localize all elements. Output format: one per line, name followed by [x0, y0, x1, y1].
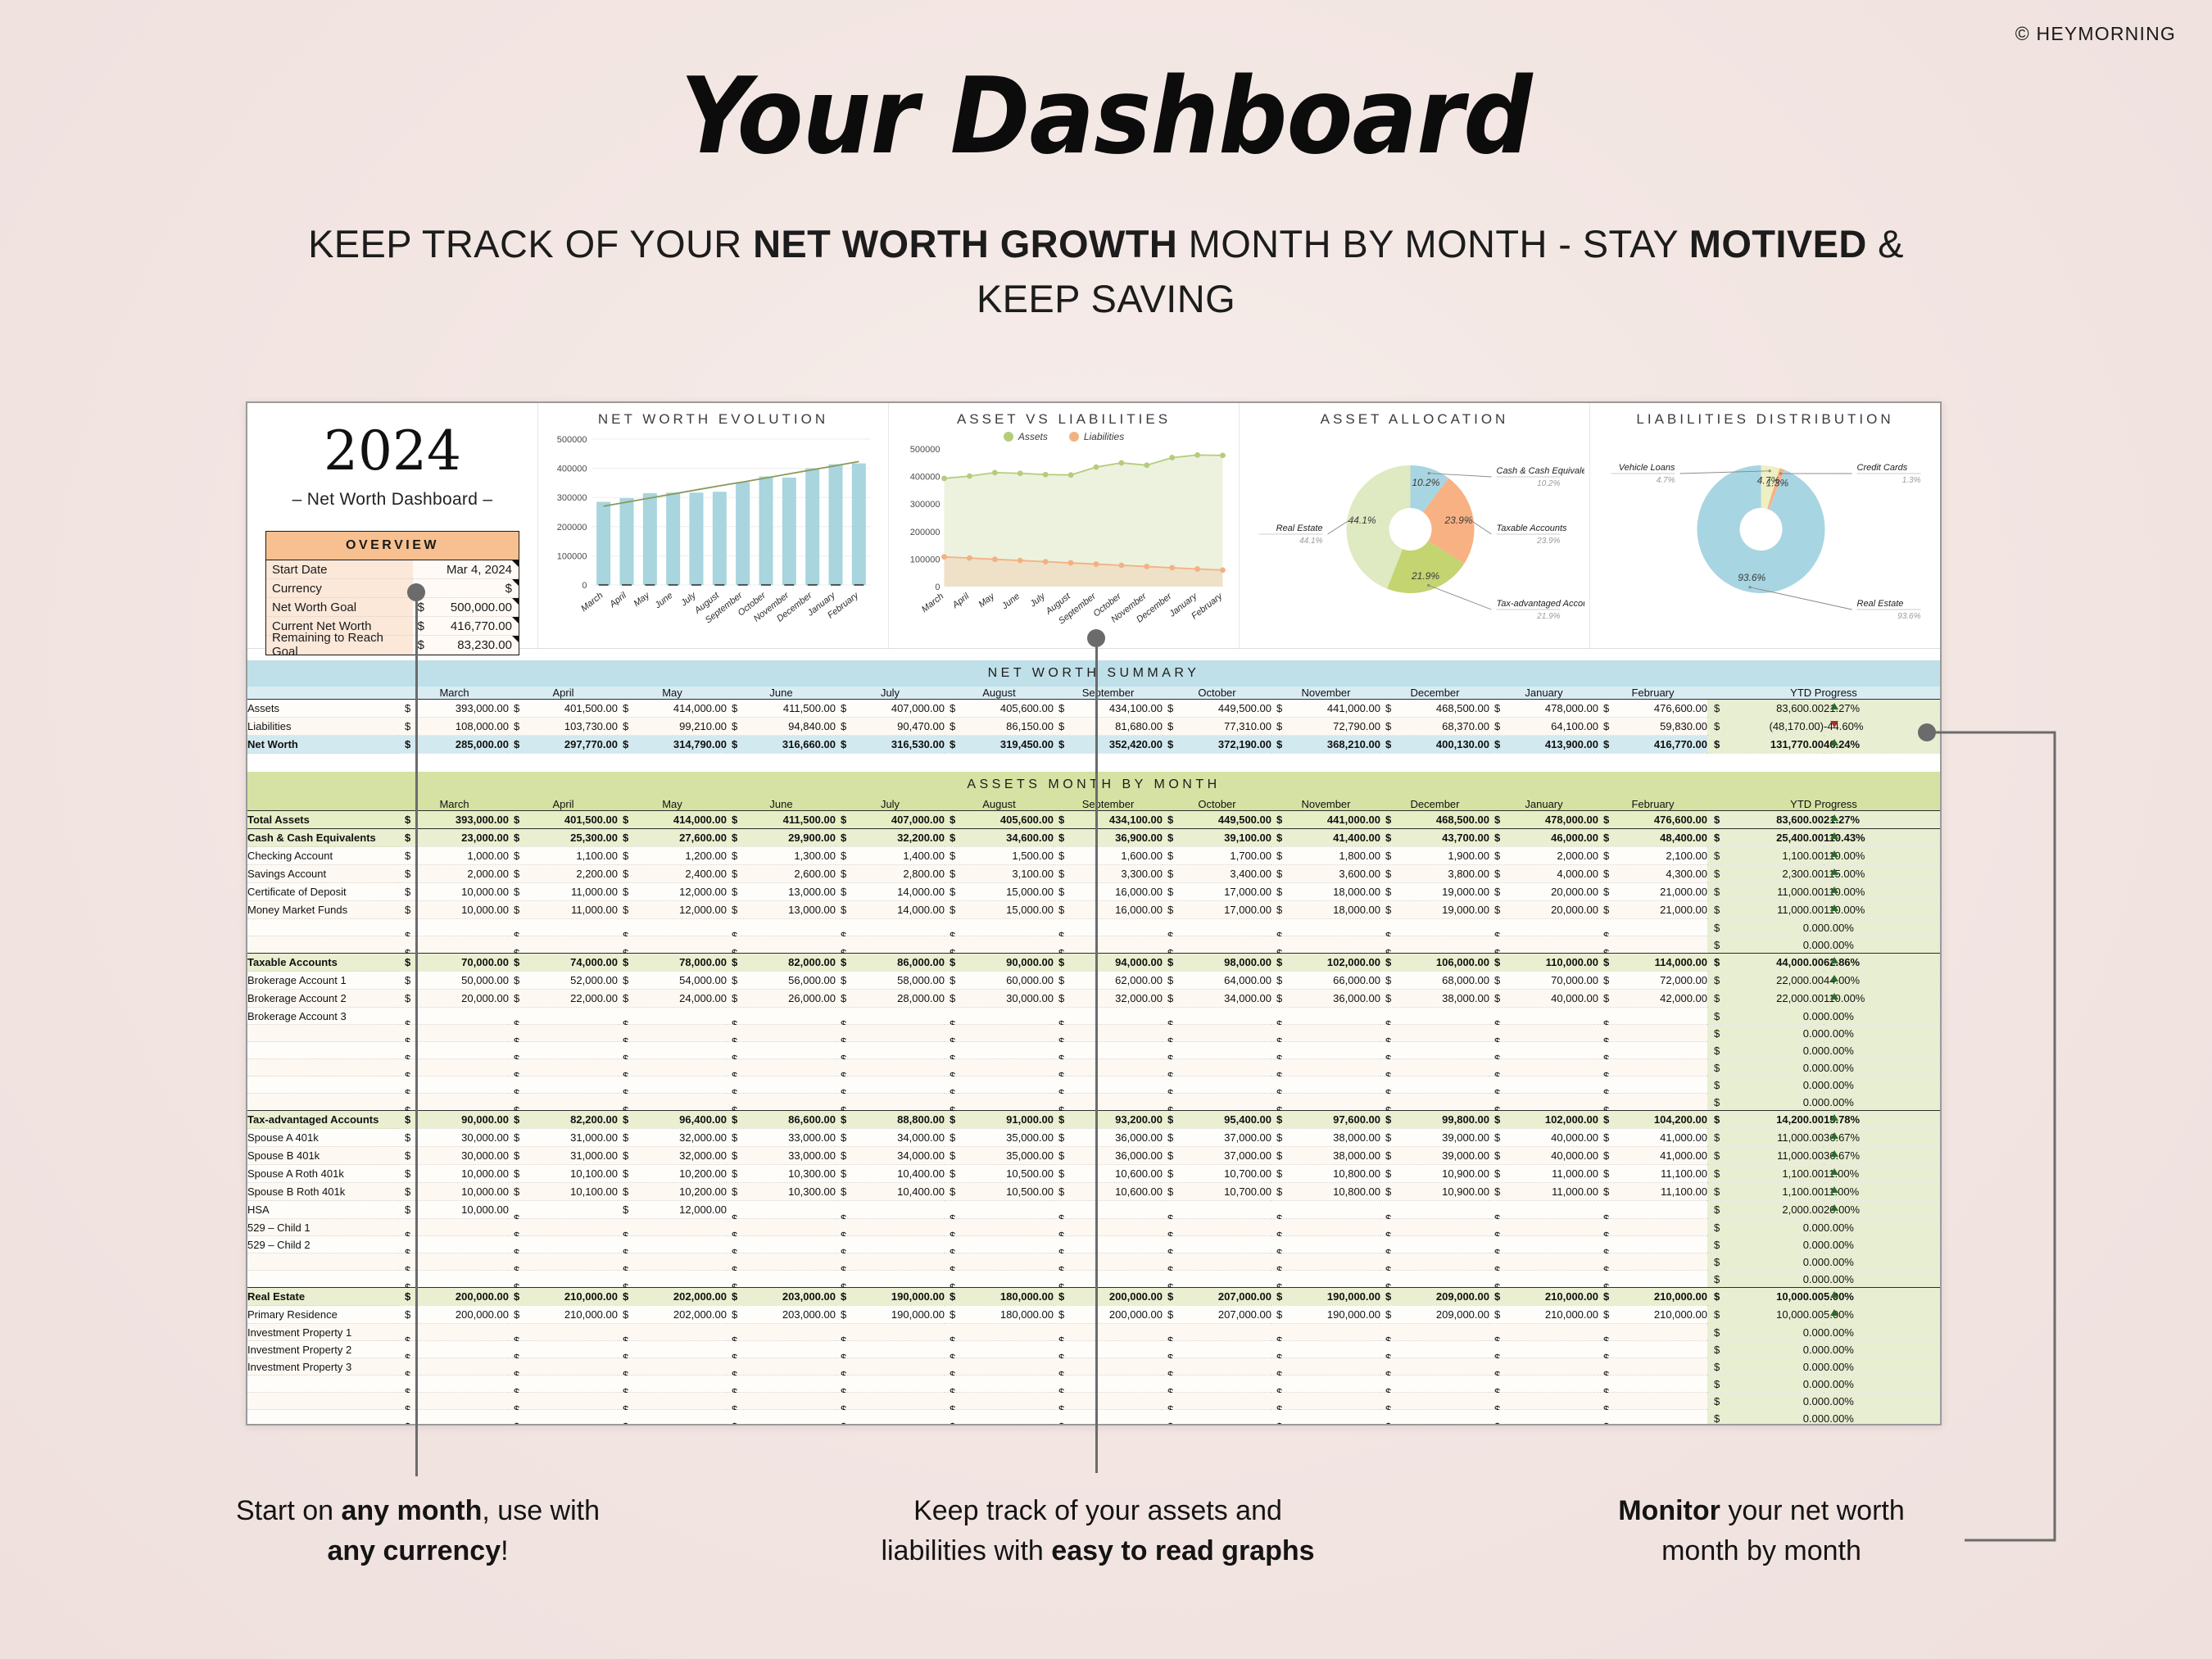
table-cell-amount[interactable]: $ [727, 1393, 836, 1410]
table-cell-amount[interactable]: $ [1380, 1410, 1489, 1426]
table-cell-amount[interactable]: $81,680.00 [1054, 718, 1163, 736]
table-cell-amount[interactable]: $ [1163, 1059, 1271, 1077]
table-cell-amount[interactable]: $478,000.00 [1489, 700, 1598, 718]
table-cell-amount[interactable]: $32,000.00 [1054, 990, 1163, 1008]
table-cell-amount[interactable]: $ [618, 919, 727, 936]
table-cell-amount[interactable]: $34,000.00 [1163, 990, 1271, 1008]
table-cell-amount[interactable]: $110,000.00 [1489, 954, 1598, 972]
table-row[interactable]: Assets$393,000.00$401,500.00$414,000.00$… [247, 700, 1940, 718]
table-cell-amount[interactable]: $64,100.00 [1489, 718, 1598, 736]
table-cell-amount[interactable]: $ [509, 1094, 618, 1111]
table-row[interactable]: 529 – Child 1$$$$$$$$$$$$$0.000.00% [247, 1219, 1940, 1236]
table-cell-amount[interactable]: $27,600.00 [618, 829, 727, 847]
table-cell-amount[interactable]: $12,000.00 [618, 1201, 727, 1219]
table-cell-amount[interactable]: $203,000.00 [727, 1288, 836, 1306]
table-cell-amount[interactable]: $68,000.00 [1380, 972, 1489, 990]
table-cell-amount[interactable]: $ [1163, 936, 1271, 954]
overview-row-value[interactable]: $416,770.00 [413, 617, 519, 636]
table-cell-amount[interactable]: $ [945, 1077, 1054, 1094]
table-cell-amount[interactable]: $ [945, 919, 1054, 936]
table-cell-amount[interactable]: $ [1489, 1077, 1598, 1094]
table-cell-amount[interactable]: $ [1054, 1253, 1163, 1271]
table-cell-amount[interactable]: $10,700.00 [1163, 1165, 1271, 1183]
table-cell-amount[interactable]: $ [1163, 1393, 1271, 1410]
table-cell-amount[interactable]: $ [509, 1253, 618, 1271]
table-cell-amount[interactable]: $ [1489, 1341, 1598, 1358]
table-cell-amount[interactable]: $ [509, 1077, 618, 1094]
table-cell-amount[interactable]: $ [727, 1341, 836, 1358]
table-cell-amount[interactable]: $18,000.00 [1271, 883, 1380, 901]
table-row[interactable]: Spouse A Roth 401k$10,000.00$10,100.00$1… [247, 1165, 1940, 1183]
table-cell-amount[interactable]: $414,000.00 [618, 811, 727, 829]
table-cell-amount[interactable]: $ [836, 936, 945, 954]
table-cell-amount[interactable]: $ [1054, 1094, 1163, 1111]
table-cell-amount[interactable]: $ [1380, 1324, 1489, 1341]
table-cell-amount[interactable]: $97,600.00 [1271, 1111, 1380, 1129]
table-cell-amount[interactable]: $ [1598, 919, 1707, 936]
table-cell-amount[interactable]: $ [1380, 1008, 1489, 1025]
table-cell-amount[interactable]: $ [945, 1201, 1054, 1219]
table-cell-amount[interactable]: $52,000.00 [509, 972, 618, 990]
table-cell-amount[interactable]: $207,000.00 [1163, 1306, 1271, 1324]
table-cell-amount[interactable]: $70,000.00 [1489, 972, 1598, 990]
table-cell-amount[interactable]: $ [1271, 1271, 1380, 1288]
table-cell-amount[interactable]: $ [1380, 919, 1489, 936]
table-cell-amount[interactable]: $13,000.00 [727, 901, 836, 919]
table-cell-amount[interactable]: $ [1489, 936, 1598, 954]
table-cell-amount[interactable]: $ [945, 1008, 1054, 1025]
table-row[interactable]: Checking Account$1,000.00$1,100.00$1,200… [247, 847, 1940, 865]
table-cell-amount[interactable]: $82,000.00 [727, 954, 836, 972]
table-cell-amount[interactable]: $ [1380, 1341, 1489, 1358]
table-cell-amount[interactable]: $407,000.00 [836, 811, 945, 829]
table-cell-amount[interactable]: $10,600.00 [1054, 1183, 1163, 1201]
table-cell-amount[interactable]: $ [618, 1393, 727, 1410]
table-cell-amount[interactable]: $35,000.00 [945, 1129, 1054, 1147]
table-cell-amount[interactable]: $14,000.00 [836, 883, 945, 901]
table-cell-amount[interactable]: $48,400.00 [1598, 829, 1707, 847]
table-cell-amount[interactable]: $ [1163, 1358, 1271, 1376]
table-cell-amount[interactable]: $36,000.00 [1054, 1129, 1163, 1147]
table-cell-amount[interactable]: $1,900.00 [1380, 847, 1489, 865]
table-row[interactable]: Cash & Cash Equivalents$23,000.00$25,300… [247, 829, 1940, 847]
table-cell-amount[interactable]: $18,000.00 [1271, 901, 1380, 919]
table-cell-amount[interactable]: $ [1163, 1324, 1271, 1341]
table-cell-amount[interactable]: $3,400.00 [1163, 865, 1271, 883]
table-cell-amount[interactable]: $405,600.00 [945, 811, 1054, 829]
table-cell-amount[interactable]: $413,900.00 [1489, 736, 1598, 754]
table-cell-amount[interactable]: $86,000.00 [836, 954, 945, 972]
table-cell-amount[interactable]: $14,000.00 [836, 901, 945, 919]
table-cell-amount[interactable]: $352,420.00 [1054, 736, 1163, 754]
table-row[interactable]: Brokerage Account 2$20,000.00$22,000.00$… [247, 990, 1940, 1008]
overview-row-value[interactable]: $500,000.00 [413, 598, 519, 617]
table-cell-amount[interactable]: $ [1054, 1341, 1163, 1358]
table-row[interactable]: $$$$$$$$$$$$$0.000.00% [247, 1253, 1940, 1271]
table-cell-amount[interactable]: $449,500.00 [1163, 700, 1271, 718]
table-row[interactable]: $$$$$$$$$$$$$0.000.00% [247, 919, 1940, 936]
table-cell-amount[interactable]: $64,000.00 [1163, 972, 1271, 990]
table-cell-amount[interactable]: $1,300.00 [727, 847, 836, 865]
table-cell-amount[interactable]: $ [836, 1236, 945, 1253]
table-cell-amount[interactable]: $ [1271, 1008, 1380, 1025]
table-cell-amount[interactable]: $36,000.00 [1271, 990, 1380, 1008]
table-cell-amount[interactable]: $ [509, 1376, 618, 1393]
table-cell-amount[interactable]: $10,800.00 [1271, 1165, 1380, 1183]
table-row[interactable]: 529 – Child 2$$$$$$$$$$$$$0.000.00% [247, 1236, 1940, 1253]
table-cell-amount[interactable]: $200,000.00 [1054, 1306, 1163, 1324]
table-cell-amount[interactable]: $ [1489, 1410, 1598, 1426]
table-cell-amount[interactable]: $10,100.00 [509, 1183, 618, 1201]
table-cell-amount[interactable]: $ [1380, 1025, 1489, 1042]
table-cell-amount[interactable]: $46,000.00 [1489, 829, 1598, 847]
table-cell-amount[interactable]: $ [945, 1059, 1054, 1077]
table-cell-amount[interactable]: $ [836, 1077, 945, 1094]
table-cell-amount[interactable]: $37,000.00 [1163, 1129, 1271, 1147]
table-cell-amount[interactable]: $2,800.00 [836, 865, 945, 883]
table-cell-amount[interactable]: $ [618, 1094, 727, 1111]
table-cell-amount[interactable]: $2,400.00 [618, 865, 727, 883]
table-cell-amount[interactable]: $ [1380, 1059, 1489, 1077]
spreadsheet-dashboard[interactable]: 2024 – Net Worth Dashboard – OVERVIEW St… [246, 401, 1942, 1426]
table-cell-amount[interactable]: $ [1380, 1077, 1489, 1094]
table-cell-amount[interactable]: $2,600.00 [727, 865, 836, 883]
table-cell-amount[interactable]: $ [509, 1025, 618, 1042]
table-cell-amount[interactable]: $34,000.00 [836, 1147, 945, 1165]
table-cell-amount[interactable]: $38,000.00 [1271, 1147, 1380, 1165]
table-cell-amount[interactable]: $ [1380, 1201, 1489, 1219]
table-cell-amount[interactable]: $ [727, 1410, 836, 1426]
table-cell-amount[interactable]: $1,100.00 [509, 847, 618, 865]
table-cell-amount[interactable]: $ [945, 936, 1054, 954]
table-cell-amount[interactable]: $32,000.00 [618, 1129, 727, 1147]
table-cell-amount[interactable]: $10,200.00 [618, 1183, 727, 1201]
table-cell-amount[interactable]: $ [618, 1042, 727, 1059]
table-cell-amount[interactable]: $40,000.00 [1489, 1129, 1598, 1147]
table-cell-amount[interactable]: $468,500.00 [1380, 700, 1489, 718]
table-cell-amount[interactable]: $36,000.00 [1054, 1147, 1163, 1165]
table-cell-amount[interactable]: $10,500.00 [945, 1183, 1054, 1201]
table-cell-amount[interactable]: $ [1271, 936, 1380, 954]
table-cell-amount[interactable]: $ [509, 919, 618, 936]
table-cell-amount[interactable]: $401,500.00 [509, 700, 618, 718]
table-cell-amount[interactable]: $2,200.00 [509, 865, 618, 883]
table-cell-amount[interactable]: $ [618, 1341, 727, 1358]
table-cell-amount[interactable]: $ [1271, 1324, 1380, 1341]
table-cell-amount[interactable]: $ [836, 1376, 945, 1393]
table-cell-amount[interactable]: $ [1054, 1393, 1163, 1410]
table-cell-amount[interactable]: $ [1054, 1059, 1163, 1077]
table-cell-amount[interactable]: $368,210.00 [1271, 736, 1380, 754]
table-cell-amount[interactable]: $ [1163, 919, 1271, 936]
table-cell-amount[interactable]: $29,900.00 [727, 829, 836, 847]
table-cell-amount[interactable]: $ [945, 1025, 1054, 1042]
table-cell-amount[interactable]: $ [1163, 1025, 1271, 1042]
table-cell-amount[interactable]: $ [836, 1393, 945, 1410]
table-cell-amount[interactable]: $ [618, 1059, 727, 1077]
table-cell-amount[interactable]: $ [1489, 1042, 1598, 1059]
table-cell-amount[interactable]: $34,000.00 [836, 1129, 945, 1147]
table-cell-amount[interactable]: $200,000.00 [1054, 1288, 1163, 1306]
table-cell-amount[interactable]: $316,660.00 [727, 736, 836, 754]
table-cell-amount[interactable]: $19,000.00 [1380, 883, 1489, 901]
table-cell-amount[interactable]: $ [945, 1410, 1054, 1426]
table-cell-amount[interactable]: $ [1489, 1393, 1598, 1410]
table-cell-amount[interactable]: $ [618, 1236, 727, 1253]
table-cell-amount[interactable]: $ [509, 1042, 618, 1059]
table-cell-amount[interactable]: $ [1598, 1393, 1707, 1410]
table-cell-amount[interactable]: $25,300.00 [509, 829, 618, 847]
table-row[interactable]: Money Market Funds$10,000.00$11,000.00$1… [247, 901, 1940, 919]
table-cell-amount[interactable]: $401,500.00 [509, 811, 618, 829]
table-cell-amount[interactable]: $3,800.00 [1380, 865, 1489, 883]
table-cell-amount[interactable]: $ [1054, 1201, 1163, 1219]
table-cell-amount[interactable]: $86,150.00 [945, 718, 1054, 736]
table-cell-amount[interactable]: $209,000.00 [1380, 1306, 1489, 1324]
table-cell-amount[interactable]: $414,000.00 [618, 700, 727, 718]
table-cell-amount[interactable]: $ [1163, 1271, 1271, 1288]
table-cell-amount[interactable]: $ [727, 1219, 836, 1236]
table-cell-amount[interactable]: $82,200.00 [509, 1111, 618, 1129]
table-cell-amount[interactable]: $372,190.00 [1163, 736, 1271, 754]
table-cell-amount[interactable]: $190,000.00 [1271, 1288, 1380, 1306]
table-cell-amount[interactable]: $ [1380, 1219, 1489, 1236]
table-cell-amount[interactable]: $ [1598, 1059, 1707, 1077]
table-cell-amount[interactable]: $210,000.00 [1489, 1306, 1598, 1324]
table-cell-amount[interactable]: $316,530.00 [836, 736, 945, 754]
table-row[interactable]: Investment Property 2$$$$$$$$$$$$$0.000.… [247, 1341, 1940, 1358]
table-cell-amount[interactable]: $ [1271, 1094, 1380, 1111]
table-cell-amount[interactable]: $ [1271, 1358, 1380, 1376]
table-cell-amount[interactable]: $210,000.00 [509, 1306, 618, 1324]
table-cell-amount[interactable]: $ [509, 1059, 618, 1077]
table-cell-amount[interactable]: $ [1271, 1410, 1380, 1426]
table-cell-amount[interactable]: $ [1598, 1236, 1707, 1253]
table-cell-amount[interactable]: $ [1054, 1236, 1163, 1253]
table-cell-amount[interactable]: $ [1598, 1376, 1707, 1393]
table-cell-amount[interactable]: $ [727, 1324, 836, 1341]
table-cell-amount[interactable]: $40,000.00 [1489, 990, 1598, 1008]
table-cell-amount[interactable]: $ [1598, 1025, 1707, 1042]
table-cell-amount[interactable]: $476,600.00 [1598, 700, 1707, 718]
table-cell-amount[interactable]: $405,600.00 [945, 700, 1054, 718]
table-cell-amount[interactable]: $38,000.00 [1380, 990, 1489, 1008]
table-cell-amount[interactable]: $ [1271, 1376, 1380, 1393]
table-row[interactable]: $$$$$$$$$$$$$0.000.00% [247, 1271, 1940, 1288]
table-cell-amount[interactable]: $22,000.00 [509, 990, 618, 1008]
table-cell-amount[interactable]: $10,100.00 [509, 1165, 618, 1183]
table-cell-amount[interactable]: $103,730.00 [509, 718, 618, 736]
table-cell-amount[interactable]: $314,790.00 [618, 736, 727, 754]
table-cell-amount[interactable]: $ [1054, 1008, 1163, 1025]
table-cell-amount[interactable]: $15,000.00 [945, 901, 1054, 919]
table-cell-amount[interactable]: $94,840.00 [727, 718, 836, 736]
table-cell-amount[interactable]: $ [618, 1376, 727, 1393]
table-cell-amount[interactable]: $10,400.00 [836, 1165, 945, 1183]
table-cell-amount[interactable]: $10,800.00 [1271, 1183, 1380, 1201]
table-cell-amount[interactable]: $ [618, 1410, 727, 1426]
table-cell-amount[interactable]: $ [1163, 1077, 1271, 1094]
table-cell-amount[interactable]: $ [1598, 1094, 1707, 1111]
table-cell-amount[interactable]: $203,000.00 [727, 1306, 836, 1324]
table-cell-amount[interactable]: $ [1380, 1236, 1489, 1253]
table-cell-amount[interactable]: $11,000.00 [1489, 1165, 1598, 1183]
table-cell-amount[interactable]: $ [1489, 1059, 1598, 1077]
table-cell-amount[interactable]: $20,000.00 [1489, 901, 1598, 919]
table-cell-amount[interactable]: $ [727, 1236, 836, 1253]
table-cell-amount[interactable]: $16,000.00 [1054, 901, 1163, 919]
table-cell-amount[interactable]: $12,000.00 [618, 901, 727, 919]
table-cell-amount[interactable]: $ [727, 1008, 836, 1025]
table-cell-amount[interactable]: $ [945, 1236, 1054, 1253]
table-cell-amount[interactable]: $34,600.00 [945, 829, 1054, 847]
table-cell-amount[interactable]: $39,000.00 [1380, 1129, 1489, 1147]
table-cell-amount[interactable]: $411,500.00 [727, 811, 836, 829]
table-cell-amount[interactable]: $58,000.00 [836, 972, 945, 990]
table-cell-amount[interactable]: $90,000.00 [945, 954, 1054, 972]
table-cell-amount[interactable]: $ [509, 1271, 618, 1288]
table-cell-amount[interactable]: $21,000.00 [1598, 901, 1707, 919]
table-row[interactable]: Investment Property 3$$$$$$$$$$$$$0.000.… [247, 1358, 1940, 1376]
table-cell-amount[interactable]: $2,000.00 [1489, 847, 1598, 865]
table-cell-amount[interactable]: $ [727, 1253, 836, 1271]
table-cell-amount[interactable]: $319,450.00 [945, 736, 1054, 754]
table-row[interactable]: Total Assets$393,000.00$401,500.00$414,0… [247, 811, 1940, 829]
table-cell-amount[interactable]: $ [836, 1008, 945, 1025]
table-cell-amount[interactable]: $32,000.00 [618, 1147, 727, 1165]
table-cell-amount[interactable]: $434,100.00 [1054, 811, 1163, 829]
table-cell-amount[interactable]: $ [945, 1393, 1054, 1410]
table-cell-amount[interactable]: $32,200.00 [836, 829, 945, 847]
table-cell-amount[interactable]: $90,470.00 [836, 718, 945, 736]
table-row[interactable]: Liabilities$108,000.00$103,730.00$99,210… [247, 718, 1940, 736]
table-cell-amount[interactable]: $56,000.00 [727, 972, 836, 990]
table-cell-amount[interactable]: $ [727, 919, 836, 936]
table-cell-amount[interactable]: $ [1054, 1358, 1163, 1376]
table-cell-amount[interactable]: $ [1598, 1341, 1707, 1358]
table-cell-amount[interactable]: $ [1380, 1253, 1489, 1271]
table-cell-amount[interactable]: $ [1598, 1042, 1707, 1059]
table-cell-amount[interactable]: $ [1598, 1253, 1707, 1271]
table-cell-amount[interactable]: $95,400.00 [1163, 1111, 1271, 1129]
table-cell-amount[interactable]: $36,900.00 [1054, 829, 1163, 847]
table-row[interactable]: Brokerage Account 3$$$$$$$$$$$$$0.000.00… [247, 1008, 1940, 1025]
table-cell-amount[interactable]: $ [1271, 919, 1380, 936]
table-cell-amount[interactable]: $33,000.00 [727, 1147, 836, 1165]
table-cell-amount[interactable]: $62,000.00 [1054, 972, 1163, 990]
table-cell-amount[interactable]: $ [1163, 1253, 1271, 1271]
table-row[interactable]: Primary Residence$200,000.00$210,000.00$… [247, 1306, 1940, 1324]
table-cell-amount[interactable]: $93,200.00 [1054, 1111, 1163, 1129]
table-cell-amount[interactable]: $434,100.00 [1054, 700, 1163, 718]
table-cell-amount[interactable]: $ [727, 1376, 836, 1393]
table-cell-amount[interactable]: $ [618, 1253, 727, 1271]
table-cell-amount[interactable]: $ [836, 1094, 945, 1111]
table-cell-amount[interactable]: $ [1271, 1042, 1380, 1059]
table-cell-amount[interactable]: $ [1489, 919, 1598, 936]
overview-row-value[interactable]: $ [413, 579, 519, 598]
table-cell-amount[interactable]: $1,400.00 [836, 847, 945, 865]
table-cell-amount[interactable]: $ [836, 1042, 945, 1059]
table-row[interactable]: $$$$$$$$$$$$$0.000.00% [247, 1410, 1940, 1426]
table-cell-amount[interactable]: $ [1271, 1201, 1380, 1219]
table-cell-amount[interactable]: $ [1271, 1025, 1380, 1042]
table-cell-amount[interactable]: $ [1598, 1271, 1707, 1288]
table-row[interactable]: $$$$$$$$$$$$$0.000.00% [247, 1042, 1940, 1059]
table-cell-amount[interactable]: $ [1380, 1358, 1489, 1376]
table-cell-amount[interactable]: $39,000.00 [1380, 1147, 1489, 1165]
table-cell-amount[interactable]: $ [1598, 1077, 1707, 1094]
table-cell-amount[interactable]: $ [1598, 1219, 1707, 1236]
table-cell-amount[interactable]: $88,800.00 [836, 1111, 945, 1129]
table-cell-amount[interactable]: $ [1054, 919, 1163, 936]
table-cell-amount[interactable]: $ [1598, 1201, 1707, 1219]
table-cell-amount[interactable]: $202,000.00 [618, 1288, 727, 1306]
table-cell-amount[interactable]: $190,000.00 [836, 1288, 945, 1306]
table-cell-amount[interactable]: $449,500.00 [1163, 811, 1271, 829]
table-cell-amount[interactable]: $ [1489, 1236, 1598, 1253]
table-cell-amount[interactable]: $416,770.00 [1598, 736, 1707, 754]
table-cell-amount[interactable]: $94,000.00 [1054, 954, 1163, 972]
table-cell-amount[interactable]: $3,100.00 [945, 865, 1054, 883]
table-cell-amount[interactable]: $ [1271, 1219, 1380, 1236]
table-cell-amount[interactable]: $ [1271, 1393, 1380, 1410]
table-row[interactable]: $$$$$$$$$$$$$0.000.00% [247, 936, 1940, 954]
table-cell-amount[interactable]: $ [1054, 1410, 1163, 1426]
table-cell-amount[interactable]: $78,000.00 [618, 954, 727, 972]
table-cell-amount[interactable]: $10,300.00 [727, 1183, 836, 1201]
overview-row-value[interactable]: $83,230.00 [413, 636, 519, 655]
table-cell-amount[interactable]: $77,310.00 [1163, 718, 1271, 736]
table-cell-amount[interactable]: $ [836, 1324, 945, 1341]
table-cell-amount[interactable]: $28,000.00 [836, 990, 945, 1008]
table-cell-amount[interactable]: $ [1054, 1042, 1163, 1059]
table-cell-amount[interactable]: $30,000.00 [945, 990, 1054, 1008]
table-cell-amount[interactable]: $ [945, 1324, 1054, 1341]
table-row[interactable]: Brokerage Account 1$50,000.00$52,000.00$… [247, 972, 1940, 990]
table-cell-amount[interactable]: $ [618, 1077, 727, 1094]
table-cell-amount[interactable]: $ [1163, 1201, 1271, 1219]
table-cell-amount[interactable]: $37,000.00 [1163, 1147, 1271, 1165]
table-cell-amount[interactable]: $ [945, 1376, 1054, 1393]
table-cell-amount[interactable]: $ [727, 1358, 836, 1376]
table-cell-amount[interactable]: $10,400.00 [836, 1183, 945, 1201]
table-cell-amount[interactable]: $68,370.00 [1380, 718, 1489, 736]
table-cell-amount[interactable]: $ [1163, 1042, 1271, 1059]
table-cell-amount[interactable]: $11,000.00 [1489, 1183, 1598, 1201]
table-cell-amount[interactable]: $1,700.00 [1163, 847, 1271, 865]
table-cell-amount[interactable]: $190,000.00 [836, 1306, 945, 1324]
table-cell-amount[interactable]: $ [1598, 936, 1707, 954]
table-cell-amount[interactable]: $ [836, 1059, 945, 1077]
table-cell-amount[interactable]: $441,000.00 [1271, 700, 1380, 718]
table-cell-amount[interactable]: $476,600.00 [1598, 811, 1707, 829]
table-cell-amount[interactable]: $ [836, 1219, 945, 1236]
table-cell-amount[interactable]: $ [1163, 1376, 1271, 1393]
table-cell-amount[interactable]: $72,790.00 [1271, 718, 1380, 736]
table-cell-amount[interactable]: $ [727, 1271, 836, 1288]
table-cell-amount[interactable]: $33,000.00 [727, 1129, 836, 1147]
table-cell-amount[interactable]: $ [1380, 1094, 1489, 1111]
table-cell-amount[interactable]: $ [1380, 1271, 1489, 1288]
table-row[interactable]: Taxable Accounts$70,000.00$74,000.00$78,… [247, 954, 1940, 972]
table-cell-amount[interactable]: $209,000.00 [1380, 1288, 1489, 1306]
table-cell-amount[interactable]: $ [1271, 1236, 1380, 1253]
table-cell-amount[interactable]: $ [618, 1008, 727, 1025]
table-cell-amount[interactable]: $96,400.00 [618, 1111, 727, 1129]
table-row[interactable]: Spouse A 401k$30,000.00$31,000.00$32,000… [247, 1129, 1940, 1147]
table-row[interactable]: Real Estate$200,000.00$210,000.00$202,00… [247, 1288, 1940, 1306]
